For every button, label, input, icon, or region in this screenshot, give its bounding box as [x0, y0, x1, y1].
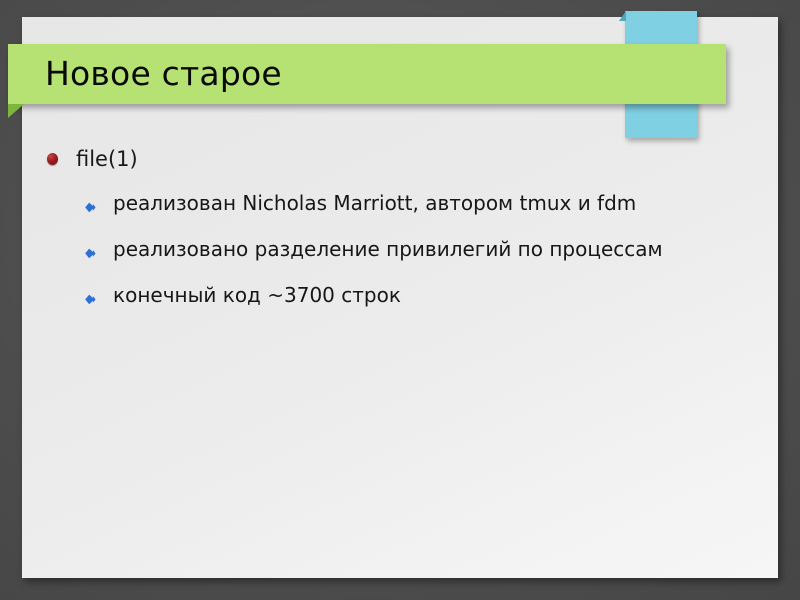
list-item: реализовано разделение привилегий по про… [84, 234, 744, 264]
blue-diamond-bullet-icon [84, 198, 96, 209]
blue-diamond-bullet-icon [84, 244, 96, 255]
list-item: file(1) [44, 144, 744, 174]
list-item-label: file(1) [76, 147, 138, 171]
list-item: конечный код ~3700 строк [84, 280, 744, 310]
list-item-label: реализовано разделение привилегий по про… [113, 237, 663, 261]
title-banner-fold [8, 104, 24, 118]
list-item-label: конечный код ~3700 строк [113, 283, 401, 307]
red-sphere-bullet-icon [47, 153, 58, 165]
list-item-label: реализован Nicholas Marriott, автором tm… [113, 191, 636, 215]
sub-list: реализован Nicholas Marriott, автором tm… [44, 188, 744, 310]
slide-body: file(1) реализован Nicholas Marriott, ав… [44, 144, 744, 326]
list-item: реализован Nicholas Marriott, автором tm… [84, 188, 744, 218]
blue-diamond-bullet-icon [84, 290, 96, 301]
blue-accent-fold [619, 11, 626, 21]
slide-title: Новое старое [45, 50, 705, 98]
presentation-stage: Новое старое file(1) реализован Nicholas… [0, 0, 800, 600]
